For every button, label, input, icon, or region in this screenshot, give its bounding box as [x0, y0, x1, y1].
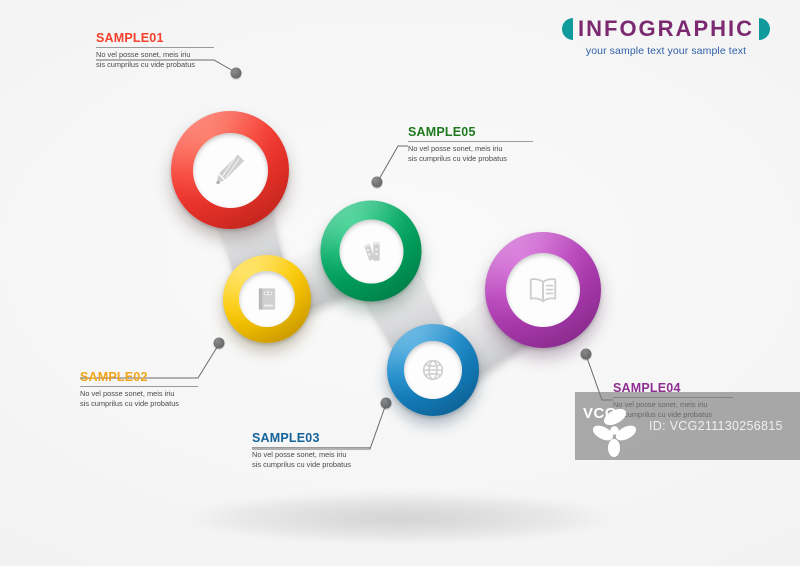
bracket-right-icon: [759, 18, 770, 40]
vcg-logo: VCG: [579, 395, 649, 457]
pencil-icon: [210, 150, 250, 190]
leader-dot-sample04: [581, 349, 592, 360]
label-title-sample02: SAMPLE02: [80, 370, 198, 385]
label-rule-sample03: [252, 447, 370, 448]
icon-well-sample02: [239, 271, 295, 327]
ring-sample05: [321, 201, 422, 302]
label-rule-sample01: [96, 47, 214, 48]
label-rule-sample05: [408, 141, 533, 142]
ring-sample01: [171, 111, 289, 229]
label-sample01: SAMPLE01 No vel posse sonet, meis iriu s…: [96, 31, 214, 70]
icon-well-sample01: [193, 133, 268, 208]
label-rule-sample02: [80, 386, 198, 387]
label-body-sample03: No vel posse sonet, meis iriu sis cumpri…: [252, 450, 370, 470]
ring-sample02: [223, 255, 311, 343]
label-title-sample01: SAMPLE01: [96, 31, 214, 46]
infographic-canvas: INFOGRAPHIC your sample text your sample…: [0, 0, 800, 566]
icon-well-sample04: [506, 253, 580, 327]
node-sample05[interactable]: [321, 201, 422, 302]
globe-icon: [417, 354, 449, 386]
label-body-sample01: No vel posse sonet, meis iriu sis cumpri…: [96, 50, 214, 70]
ring-sample04: [485, 232, 601, 348]
label-body-sample02: No vel posse sonet, meis iriu sis cumpri…: [80, 389, 198, 409]
vcg-flower-icon: [579, 395, 649, 457]
node-sample03[interactable]: [387, 324, 479, 416]
label-title-sample03: SAMPLE03: [252, 431, 370, 446]
label-sample02: SAMPLE02 No vel posse sonet, meis iriu s…: [80, 370, 198, 409]
node-sample01[interactable]: [171, 111, 289, 229]
node-sample02[interactable]: [223, 255, 311, 343]
logo-block: INFOGRAPHIC your sample text your sample…: [562, 18, 770, 57]
icon-well-sample05: [339, 219, 403, 283]
page-title: INFOGRAPHIC: [578, 18, 754, 40]
label-body-sample05: No vel posse sonet, meis iriu sis cumpri…: [408, 144, 533, 164]
label-sample03: SAMPLE03 No vel posse sonet, meis iriu s…: [252, 431, 370, 470]
label-title-sample05: SAMPLE05: [408, 125, 533, 140]
book-shelf-icon: [354, 234, 388, 268]
leader-dot-sample01: [231, 68, 242, 79]
node-sample04[interactable]: [485, 232, 601, 348]
open-book-icon: [522, 269, 564, 311]
icon-well-sample03: [404, 341, 462, 399]
label-sample05: SAMPLE05 No vel posse sonet, meis iriu s…: [408, 125, 533, 164]
closed-book-icon: [252, 284, 282, 314]
watermark-id: ID: VCG211130256815: [649, 419, 783, 433]
leader-dot-sample05: [372, 177, 383, 188]
ring-sample03: [387, 324, 479, 416]
bracket-left-icon: [562, 18, 573, 40]
watermark-overlay: VCG ID: VCG211130256815: [575, 392, 800, 460]
page-subtitle: your sample text your sample text: [562, 45, 770, 57]
